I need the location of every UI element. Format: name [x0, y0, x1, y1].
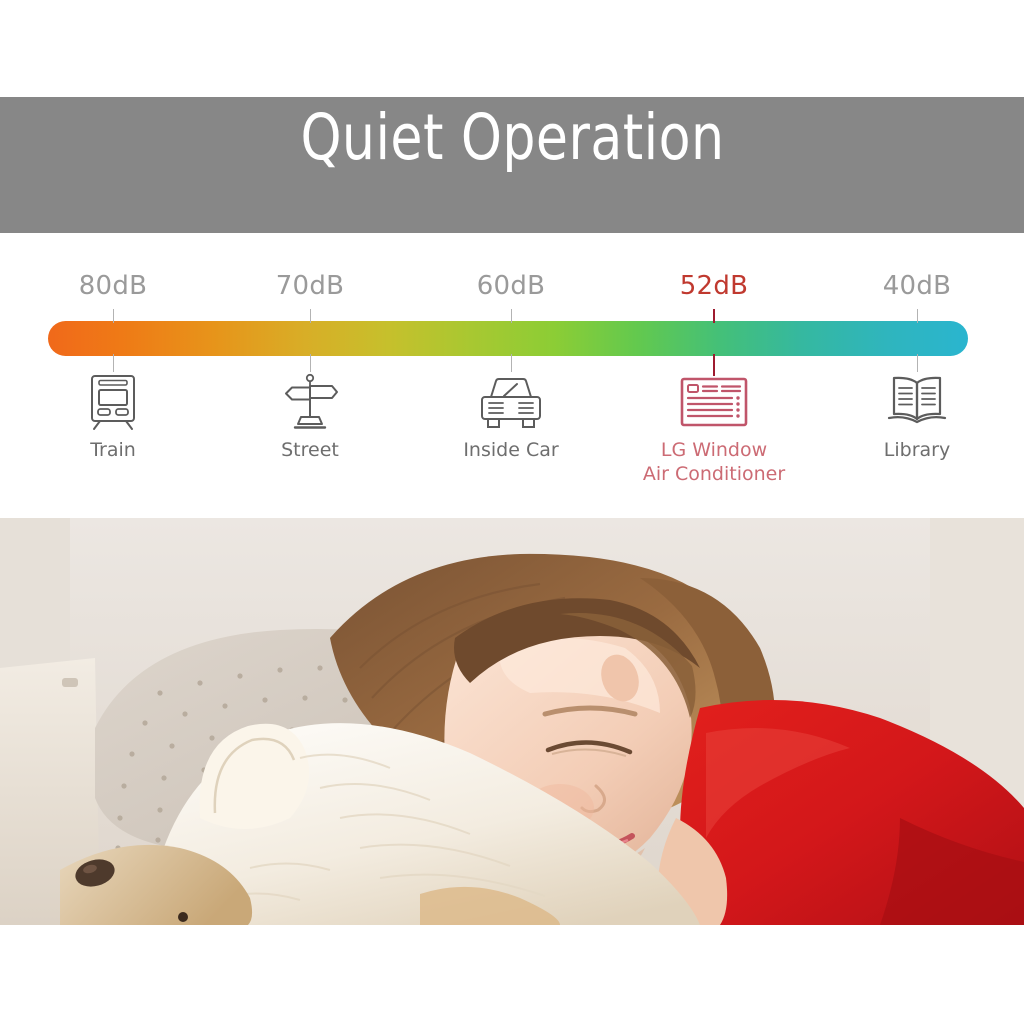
- tick-down-library: [917, 354, 919, 372]
- db-label-train: 80dB: [13, 271, 213, 301]
- caption-lg-window-ac-line1: LG Window: [614, 438, 814, 462]
- photo-illustration: [0, 518, 1024, 925]
- tick-down-inside-car: [511, 354, 513, 372]
- tick-down-street: [310, 354, 312, 372]
- noise-gradient-bar: [48, 321, 968, 356]
- noise-scale-section: 80dB Train 70: [0, 233, 1024, 518]
- quiet-operation-infographic: Quiet Operation 80dB: [0, 0, 1024, 1024]
- db-label-library: 40dB: [817, 271, 1017, 301]
- air-conditioner-icon: [614, 371, 814, 433]
- db-label-street: 70dB: [210, 271, 410, 301]
- tick-up-library: [917, 309, 919, 323]
- db-label-inside-car: 60dB: [411, 271, 611, 301]
- tick-up-lg-window-ac: [713, 309, 715, 323]
- train-icon: [13, 371, 213, 433]
- open-book-icon: [817, 371, 1017, 433]
- caption-train: Train: [13, 438, 213, 462]
- caption-lg-window-ac: LG Window Air Conditioner: [614, 438, 814, 486]
- page-title: Quiet Operation: [300, 97, 724, 169]
- tick-down-train: [113, 354, 115, 372]
- tick-up-train: [113, 309, 115, 323]
- caption-lg-window-ac-line2: Air Conditioner: [614, 462, 814, 486]
- caption-inside-car: Inside Car: [411, 438, 611, 462]
- lifestyle-photo: [0, 518, 1024, 925]
- header-banner: Quiet Operation: [0, 97, 1024, 233]
- signpost-icon: [210, 371, 410, 433]
- tick-up-street: [310, 309, 312, 323]
- db-label-lg-window-ac: 52dB: [614, 271, 814, 301]
- caption-street: Street: [210, 438, 410, 462]
- caption-library: Library: [817, 438, 1017, 462]
- car-front-icon: [411, 371, 611, 433]
- tick-up-inside-car: [511, 309, 513, 323]
